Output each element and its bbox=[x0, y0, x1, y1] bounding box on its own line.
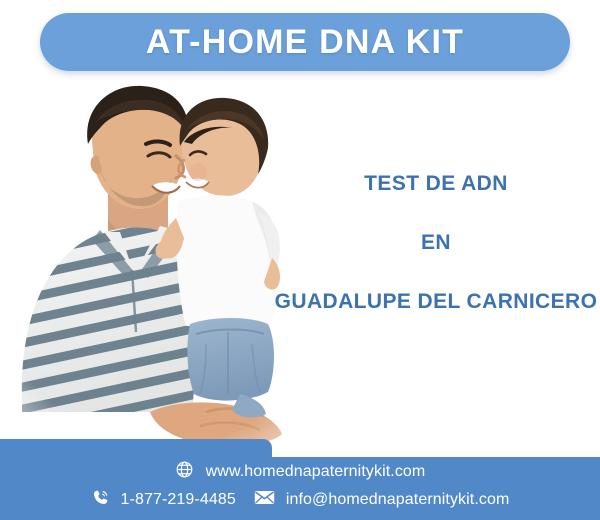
footer-website-row[interactable]: www.homednapaternitykit.com bbox=[175, 460, 426, 484]
headline-line-preposition: EN bbox=[421, 232, 451, 253]
header-banner: AT-HOME DNA KIT bbox=[40, 13, 570, 71]
email-address[interactable]: info@homednapaternitykit.com bbox=[286, 492, 510, 508]
footer-rows: www.homednapaternitykit.com 1-877-219-44… bbox=[0, 430, 600, 520]
headline-line-location: GUADALUPE DEL CARNICERO bbox=[275, 291, 598, 312]
phone-contact[interactable]: 1-877-219-4485 bbox=[91, 488, 236, 512]
website-url[interactable]: www.homednapaternitykit.com bbox=[206, 464, 426, 480]
headline-block: TEST DE ADN EN GUADALUPE DEL CARNICERO bbox=[272, 160, 600, 320]
email-contact[interactable]: info@homednapaternitykit.com bbox=[254, 488, 510, 512]
phone-icon bbox=[91, 488, 110, 512]
header-banner-title: AT-HOME DNA KIT bbox=[146, 25, 464, 59]
footer-contact-row: 1-877-219-4485 info@homednapaternitykit.… bbox=[91, 488, 510, 512]
headline-line-service: TEST DE ADN bbox=[364, 173, 508, 194]
dna-test-promo-card: AT-HOME DNA KIT bbox=[0, 0, 600, 520]
envelope-icon bbox=[254, 488, 275, 512]
phone-number[interactable]: 1-877-219-4485 bbox=[121, 492, 236, 508]
footer-contact-bar: www.homednapaternitykit.com 1-877-219-44… bbox=[0, 430, 600, 520]
globe-icon bbox=[175, 460, 194, 484]
